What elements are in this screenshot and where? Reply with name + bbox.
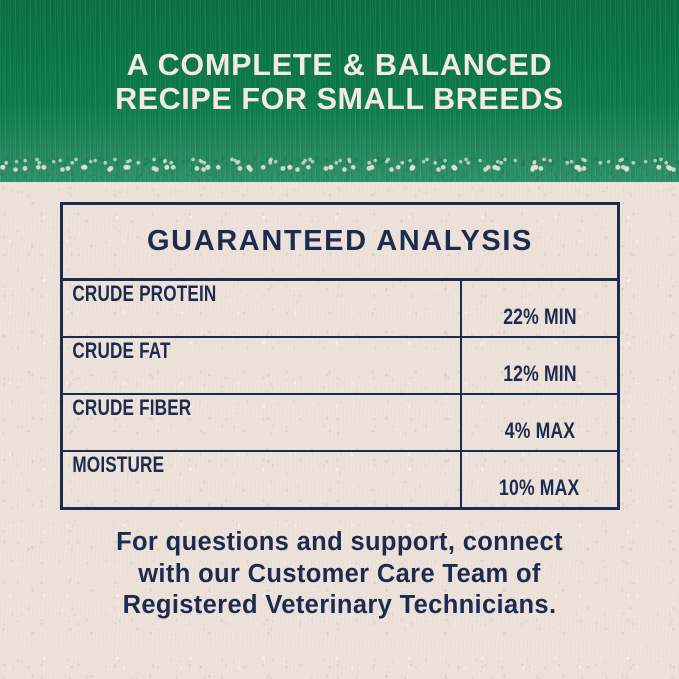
nutrient-label-cell: CRUDE FIBER	[63, 395, 462, 450]
nutrient-label: MOISTURE	[63, 452, 462, 484]
nutrient-value-cell: 10% MAX	[462, 452, 617, 507]
nutrient-label: CRUDE PROTEIN	[63, 281, 462, 313]
support-message-line-1: For questions and support, connect	[0, 527, 679, 559]
table-row: MOISTURE 10% MAX	[63, 452, 617, 507]
nutrient-label-cell: CRUDE FAT	[63, 338, 462, 393]
banner-headline: A COMPLETE & BALANCED RECIPE FOR SMALL B…	[0, 48, 679, 116]
guaranteed-analysis-title: GUARANTEED ANALYSIS	[147, 227, 533, 256]
nutrient-value: 10% MAX	[499, 475, 579, 501]
table-row: CRUDE FIBER 4% MAX	[63, 395, 617, 452]
pet-food-package-panel: A COMPLETE & BALANCED RECIPE FOR SMALL B…	[0, 0, 679, 679]
customer-support-message: For questions and support, connect with …	[0, 527, 679, 622]
nutrient-value-cell: 12% MIN	[462, 338, 617, 393]
nutrient-value: 12% MIN	[503, 361, 577, 387]
nutrient-value: 4% MAX	[504, 418, 574, 444]
nutrient-label: CRUDE FAT	[63, 338, 462, 370]
table-row: CRUDE PROTEIN 22% MIN	[63, 281, 617, 338]
support-message-line-3: Registered Veterinary Technicians.	[0, 590, 679, 622]
guaranteed-analysis-header: GUARANTEED ANALYSIS	[63, 205, 617, 281]
nutrient-value-cell: 22% MIN	[462, 281, 617, 336]
table-row: CRUDE FAT 12% MIN	[63, 338, 617, 395]
green-banner: A COMPLETE & BALANCED RECIPE FOR SMALL B…	[0, 0, 679, 182]
banner-headline-line-1: A COMPLETE & BALANCED	[0, 48, 679, 82]
banner-headline-line-2: RECIPE FOR SMALL BREEDS	[0, 82, 679, 116]
support-message-line-2: with our Customer Care Team of	[0, 559, 679, 591]
nutrient-label-cell: CRUDE PROTEIN	[63, 281, 462, 336]
guaranteed-analysis-table: GUARANTEED ANALYSIS CRUDE PROTEIN 22% MI…	[60, 202, 620, 510]
nutrient-value: 22% MIN	[503, 304, 577, 330]
nutrient-label-cell: MOISTURE	[63, 452, 462, 507]
nutrient-value-cell: 4% MAX	[462, 395, 617, 450]
nutrient-label: CRUDE FIBER	[63, 395, 462, 427]
